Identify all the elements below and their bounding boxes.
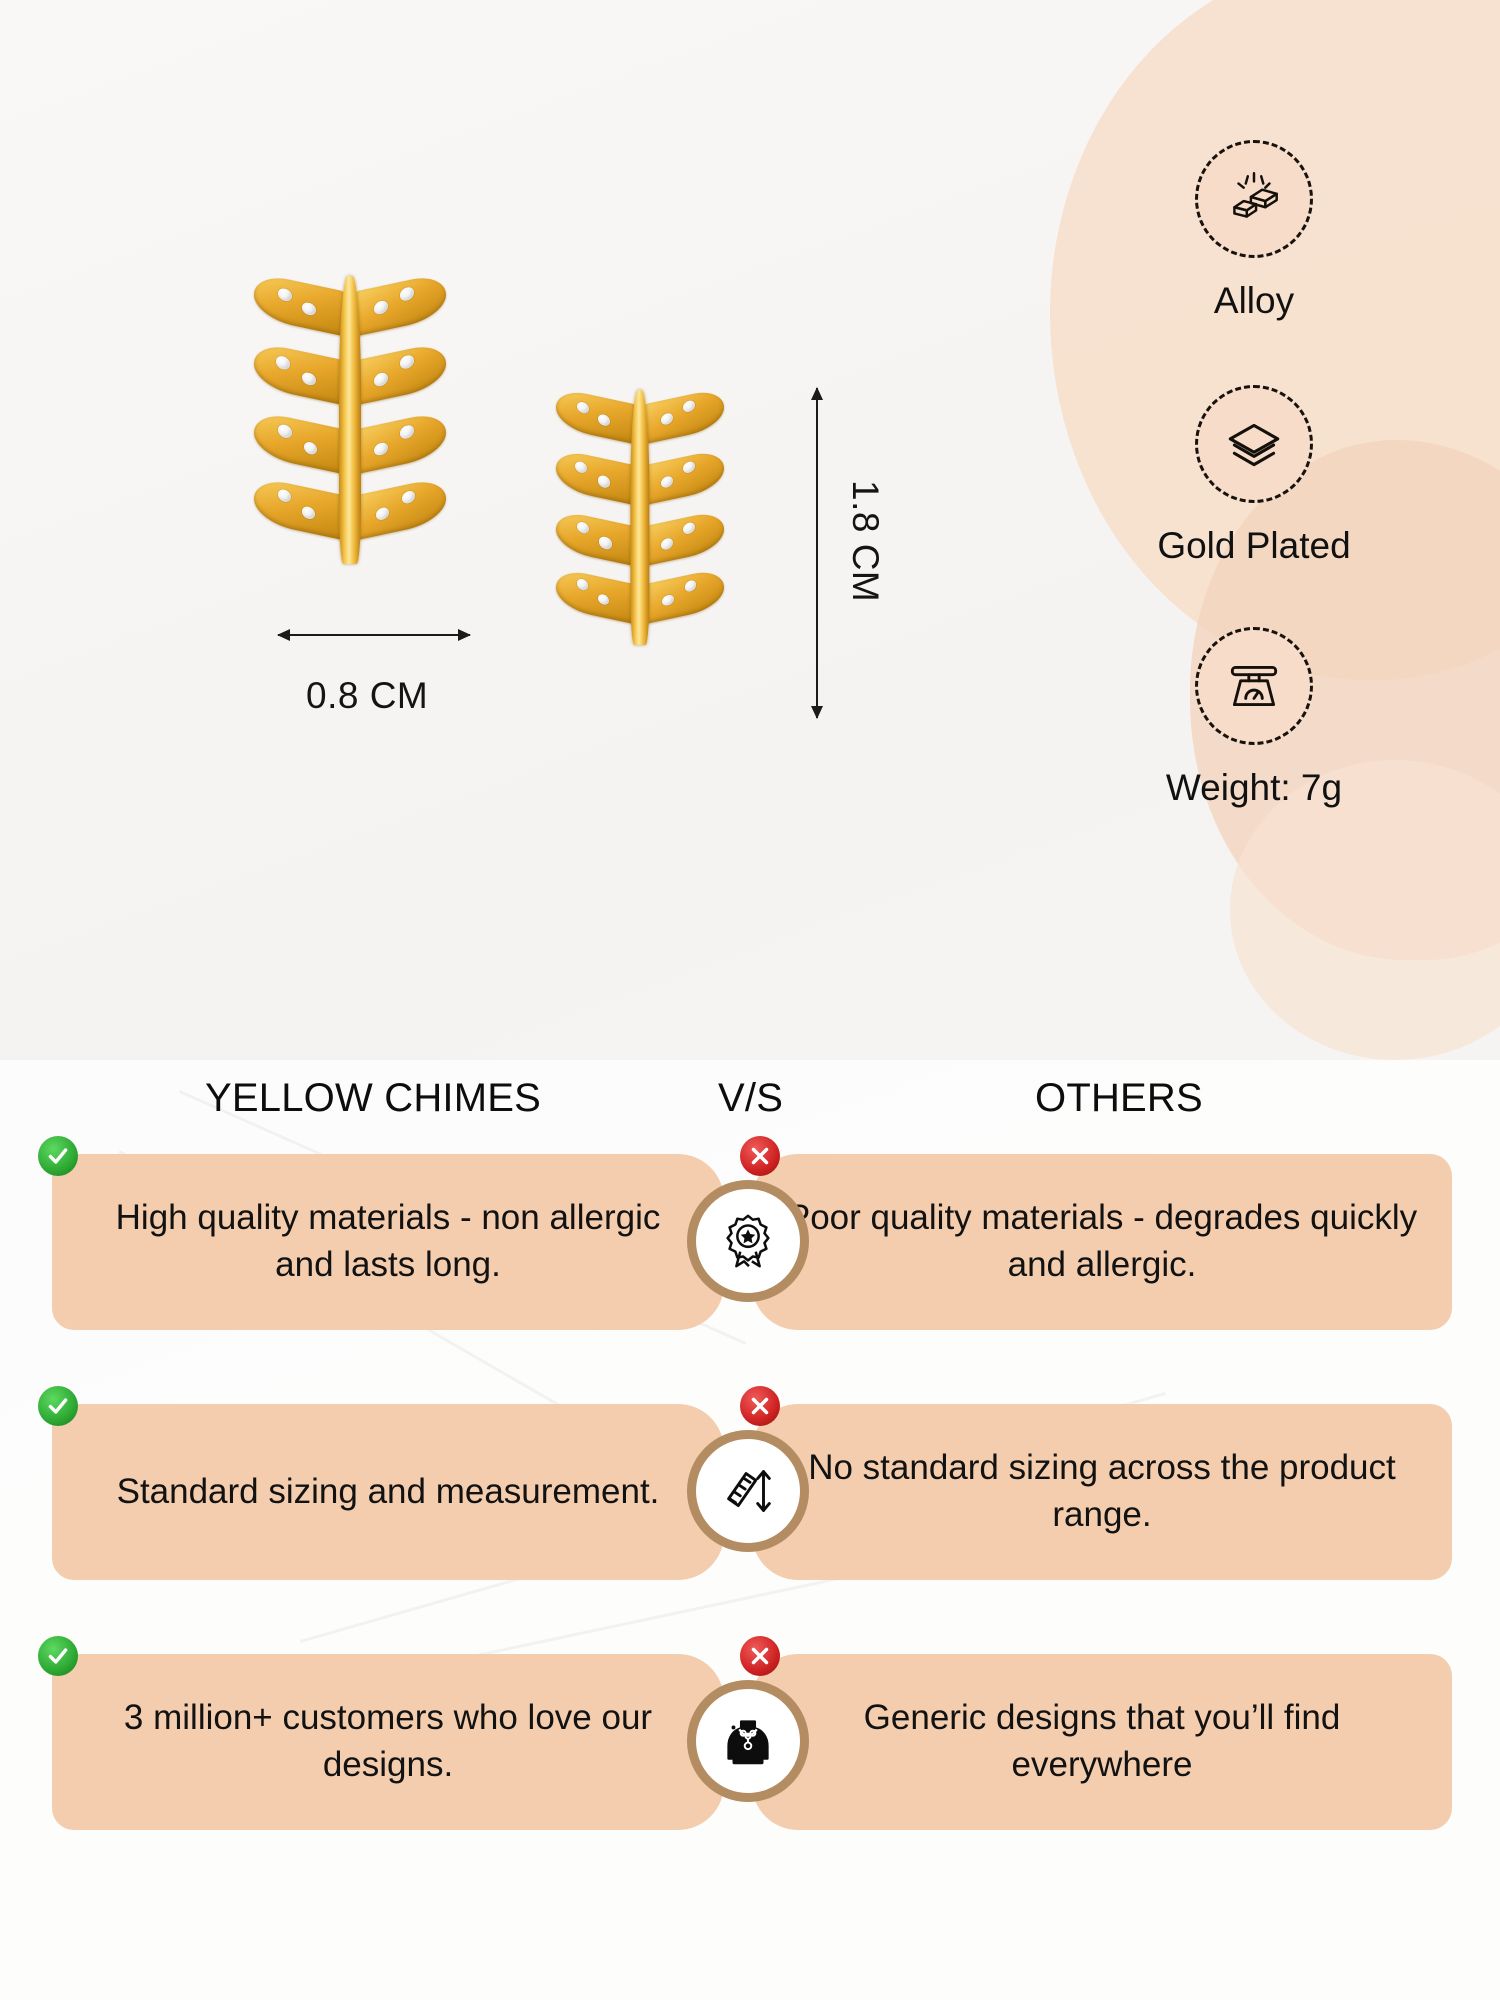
earring-leaf <box>254 341 346 406</box>
quality-badge-icon <box>687 1180 809 1302</box>
comparison-negative-text: Poor quality materials - degrades quickl… <box>786 1195 1418 1288</box>
comparison-headers: YELLOW CHIMES V/S OTHERS <box>0 1060 1500 1136</box>
layers-icon <box>1221 411 1287 477</box>
earring-leaf <box>354 272 446 337</box>
comparison-positive-card: Standard sizing and measurement. <box>52 1404 724 1580</box>
earring-center-bar <box>339 276 361 564</box>
comparison-row: Standard sizing and measurement. No stan… <box>0 1386 1500 1578</box>
earring-leaf <box>354 341 446 406</box>
cross-circle-icon <box>740 1136 780 1176</box>
comparison-row: High quality materials - non allergic an… <box>0 1136 1500 1328</box>
comparison-header-others: OTHERS <box>1035 1076 1203 1121</box>
earring-leaf <box>556 567 637 624</box>
spec-gold-plated: Gold Plated <box>1124 385 1384 567</box>
ruler-measure-icon <box>687 1430 809 1552</box>
comparison-row: 3 million+ customers who love our design… <box>0 1636 1500 1828</box>
spec-weight: Weight: 7g <box>1124 627 1384 809</box>
comparison-negative-card: Poor quality materials - degrades quickl… <box>752 1154 1452 1330</box>
product-hero-section: 0.8 CM 1.8 CM Alloy Gold Pla <box>0 0 1500 1050</box>
check-circle-icon <box>38 1636 78 1676</box>
check-circle-icon <box>38 1136 78 1176</box>
check-circle-icon <box>38 1386 78 1426</box>
jewelry-bust-icon <box>687 1680 809 1802</box>
cross-circle-icon <box>740 1386 780 1426</box>
comparison-negative-text: Generic designs that you’ll find everywh… <box>786 1695 1418 1788</box>
earring-center-bar <box>630 390 649 644</box>
gold-bars-icon <box>1221 166 1287 232</box>
spec-alloy-label: Alloy <box>1124 280 1384 322</box>
height-dimension-arrow <box>816 388 818 718</box>
spec-alloy-circle <box>1195 140 1313 258</box>
comparison-positive-card: 3 million+ customers who love our design… <box>52 1654 724 1830</box>
spec-gold-plated-circle <box>1195 385 1313 503</box>
earring-leaf <box>643 567 724 624</box>
cross-circle-icon <box>740 1636 780 1676</box>
width-dimension-label: 0.8 CM <box>306 675 428 717</box>
comparison-negative-card: No standard sizing across the product ra… <box>752 1404 1452 1580</box>
spec-gold-plated-label: Gold Plated <box>1124 525 1384 567</box>
earring-leaf <box>254 476 346 541</box>
comparison-negative-text: No standard sizing across the product ra… <box>786 1445 1418 1538</box>
earring-large <box>250 270 450 570</box>
earring-leaf <box>254 410 346 475</box>
earring-leaf <box>643 509 724 566</box>
comparison-positive-card: High quality materials - non allergic an… <box>52 1154 724 1330</box>
weighing-scale-icon <box>1221 653 1287 719</box>
comparison-header-vs: V/S <box>718 1076 783 1121</box>
earring-leaf <box>643 387 724 444</box>
earring-leaf <box>254 272 346 337</box>
earring-leaf <box>556 387 637 444</box>
height-dimension-label: 1.8 CM <box>844 480 886 602</box>
comparison-positive-text: 3 million+ customers who love our design… <box>86 1695 690 1788</box>
earring-leaf <box>556 448 637 505</box>
spec-weight-circle <box>1195 627 1313 745</box>
spec-alloy: Alloy <box>1124 140 1384 322</box>
comparison-negative-card: Generic designs that you’ll find everywh… <box>752 1654 1452 1830</box>
comparison-section: YELLOW CHIMES V/S OTHERS High quality ma… <box>0 1060 1500 1886</box>
comparison-positive-text: High quality materials - non allergic an… <box>86 1195 690 1288</box>
earring-small <box>552 385 727 650</box>
earring-leaf <box>354 476 446 541</box>
earring-leaf <box>643 448 724 505</box>
spec-weight-label: Weight: 7g <box>1124 767 1384 809</box>
earring-leaf <box>556 509 637 566</box>
earring-leaf <box>354 410 446 475</box>
comparison-header-yellow-chimes: YELLOW CHIMES <box>205 1076 541 1121</box>
comparison-positive-text: Standard sizing and measurement. <box>117 1469 660 1516</box>
width-dimension-arrow <box>278 634 470 636</box>
